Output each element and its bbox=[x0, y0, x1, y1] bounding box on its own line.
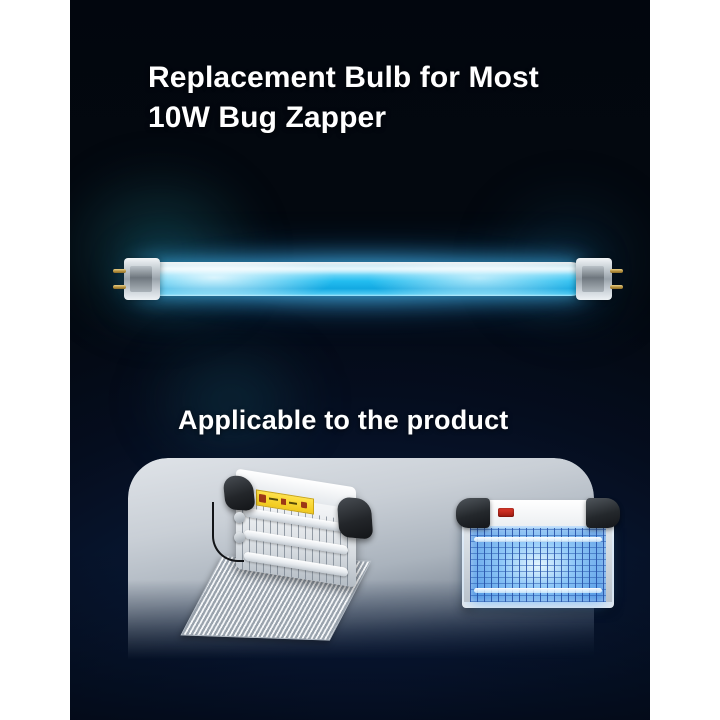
bulb-pin-right-top bbox=[610, 269, 623, 273]
grid-rail-left bbox=[464, 528, 470, 602]
bulb-pin-left-top bbox=[113, 269, 126, 273]
page-title: Replacement Bulb for Most 10W Bug Zapper bbox=[148, 58, 618, 138]
zapper-endcap-right-left bbox=[456, 498, 490, 528]
warning-text-line-2 bbox=[289, 502, 297, 505]
warning-mark-2 bbox=[281, 498, 286, 505]
product-image-front-zapper bbox=[454, 490, 622, 615]
uv-lamp-top bbox=[474, 537, 602, 542]
section-subheading: Applicable to the product bbox=[178, 405, 618, 436]
bulb-pin-left-bottom bbox=[113, 285, 126, 289]
bulb-endcap-band-left bbox=[130, 266, 152, 292]
bulb-endcap-left bbox=[124, 258, 160, 300]
headline-line-1: Replacement Bulb for Most bbox=[148, 58, 618, 98]
headline-line-2: 10W Bug Zapper bbox=[148, 98, 618, 138]
warning-mark-3 bbox=[301, 502, 307, 509]
zapper-endcap-left-far bbox=[337, 496, 374, 539]
product-image-canvas: Replacement Bulb for Most 10W Bug Zapper… bbox=[0, 0, 720, 720]
product-image-angled-zapper bbox=[198, 472, 388, 647]
grid-rail-right bbox=[606, 528, 612, 602]
product-banner: Replacement Bulb for Most 10W Bug Zapper… bbox=[70, 0, 650, 720]
bulb-pin-right-bottom bbox=[610, 285, 623, 289]
uv-lamp-bottom bbox=[474, 588, 602, 593]
bulb-specular-highlight bbox=[140, 267, 580, 274]
bulb-endcap-band-right bbox=[582, 266, 604, 292]
lamp-tube-2 bbox=[244, 529, 348, 554]
power-switch-icon bbox=[498, 508, 514, 517]
electric-grid-icon bbox=[470, 528, 606, 602]
power-cord-icon bbox=[212, 502, 244, 562]
zapper-endcap-right-right bbox=[586, 498, 620, 528]
hero-bulb-image bbox=[70, 228, 650, 334]
warning-mark-1 bbox=[259, 494, 266, 503]
warning-text-line-1 bbox=[269, 497, 278, 500]
uv-tube-bulb-icon bbox=[132, 262, 588, 296]
bulb-endcap-right bbox=[576, 258, 612, 300]
